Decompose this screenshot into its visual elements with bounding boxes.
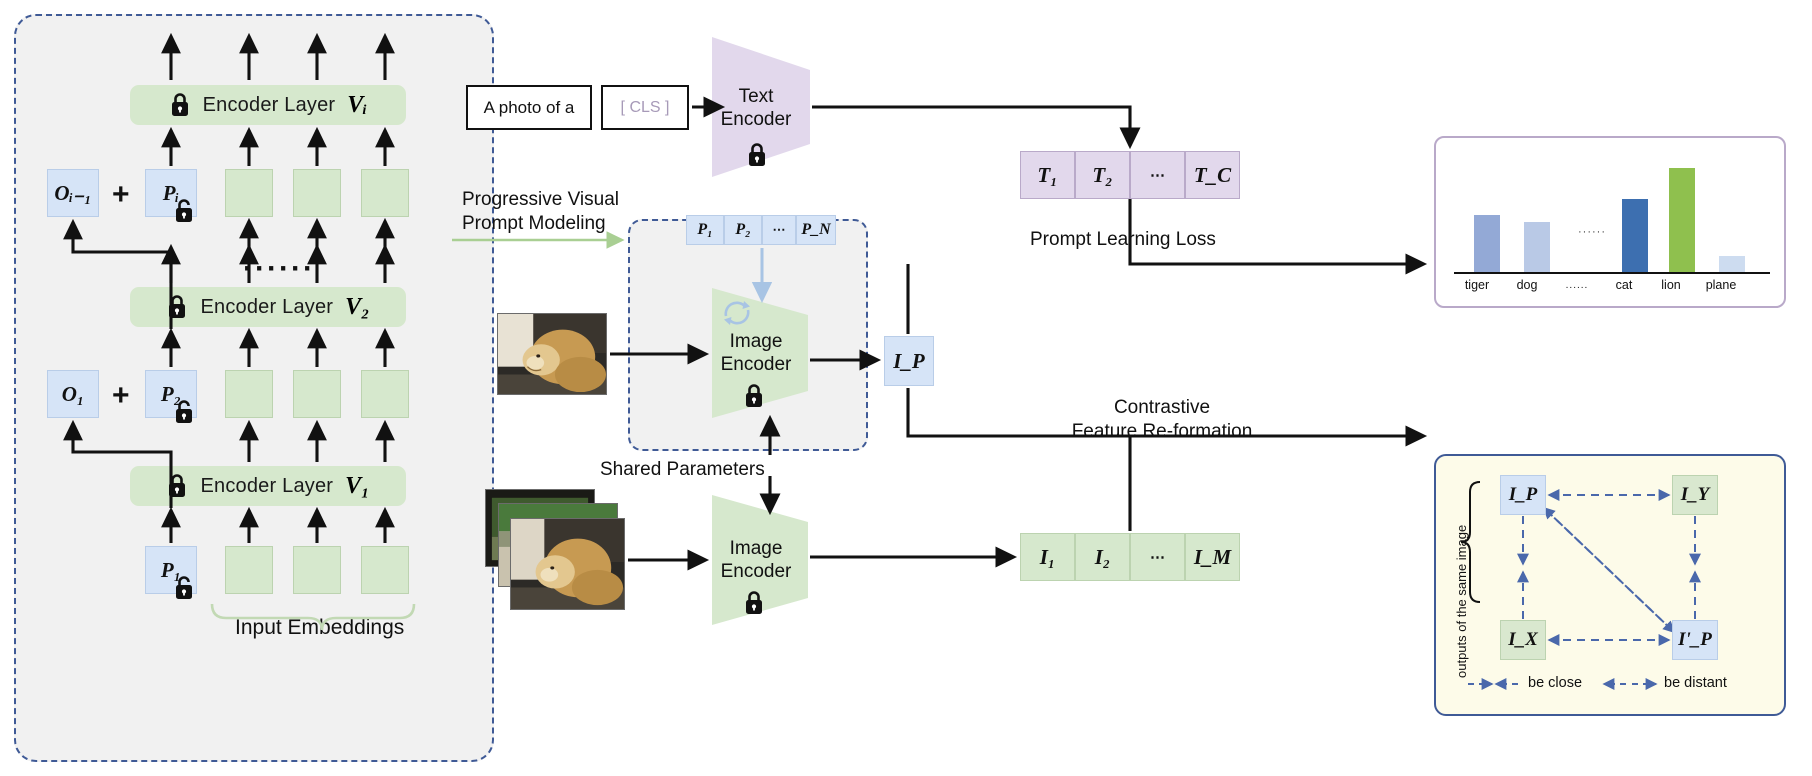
cls-token-box: [ CLS ] — [601, 85, 689, 130]
embedding-block — [361, 546, 409, 594]
chart-mid-ellipsis: ······ — [1578, 226, 1606, 238]
visual-prompt-ellipsis: ⋯ — [762, 215, 796, 245]
text-token-ellipsis: ⋯ — [1130, 151, 1185, 199]
encoder-layer-symbol: V₁ — [345, 473, 369, 500]
embedding-block — [293, 546, 341, 594]
visual-prompt: P₁ — [686, 215, 724, 245]
encoder-layer-symbol: Vᵢ — [347, 92, 367, 119]
embedding-block — [225, 370, 273, 418]
contrastive-label-line2: Feature Re-formation — [1052, 420, 1272, 444]
bar-tiger — [1474, 215, 1500, 272]
shared-parameters-label: Shared Parameters — [600, 458, 765, 482]
encoder-layer-label: Encoder Layer — [203, 94, 336, 117]
residual-output-oi: Oᵢ₋₁ — [47, 169, 99, 217]
plus-sign: + — [112, 180, 130, 210]
bar-dog — [1524, 222, 1550, 272]
image-token-row: I₁ I₂ ⋯ I_M — [1020, 533, 1240, 581]
embedding-block — [293, 169, 341, 217]
image-token: I_M — [1185, 533, 1240, 581]
image-encoder-bottom-label: Image Encoder — [712, 537, 800, 583]
chart-xtick: tiger — [1448, 278, 1506, 292]
diagram-root: Encoder Layer Vᵢ Encoder Layer V₂ Encode… — [0, 0, 1812, 776]
legend-be-close: be close — [1528, 675, 1582, 691]
text-prompt-box[interactable]: A photo of a — [466, 85, 592, 130]
lock-closed-icon — [745, 141, 769, 174]
chart-xtick: plane — [1691, 278, 1751, 292]
embedding-block — [225, 169, 273, 217]
bar-cat — [1622, 199, 1648, 272]
chart-xtick: dog — [1499, 278, 1555, 292]
visual-prompt: P₂ — [724, 215, 762, 245]
image-token: I₂ — [1075, 533, 1130, 581]
bar-lion — [1669, 168, 1695, 272]
text-encoder-label: Text Encoder — [712, 85, 800, 131]
ip-token: I_P — [884, 336, 934, 386]
contrastive-node-ix: I_X — [1500, 620, 1546, 660]
image-token: I₁ — [1020, 533, 1075, 581]
chart-plot-area: ······ — [1454, 154, 1770, 272]
text-encoder: Text Encoder — [712, 37, 810, 177]
lock-open-icon — [172, 397, 196, 430]
image-encoder-top: Image Encoder — [712, 288, 808, 418]
plus-sign: + — [112, 381, 130, 411]
contrastive-node-ip-prime: I'_P — [1672, 620, 1718, 660]
input-embeddings-label: Input Embeddings — [235, 615, 404, 641]
lock-closed-icon — [166, 473, 188, 499]
embedding-block — [225, 546, 273, 594]
lock-closed-icon — [169, 92, 191, 118]
visual-prompt: P_N — [796, 215, 836, 245]
image-encoder-top-label: Image Encoder — [712, 330, 800, 376]
legend-be-distant: be distant — [1664, 675, 1727, 691]
embedding-block — [361, 370, 409, 418]
contrastive-node-iy: I_Y — [1672, 475, 1718, 515]
encoder-layer-v2: Encoder Layer V₂ — [130, 287, 406, 327]
contrastive-feature-diagram: outputs of the same image — [1434, 454, 1786, 716]
lock-open-icon — [172, 196, 196, 229]
bar-plane — [1719, 256, 1745, 273]
contrastive-label-line1: Contrastive — [1052, 396, 1272, 420]
text-token: T_C — [1185, 151, 1240, 199]
embedding-block — [361, 169, 409, 217]
input-image-single — [497, 313, 607, 395]
image-encoder-bottom: Image Encoder — [712, 495, 808, 625]
encoder-layer-symbol: V₂ — [345, 294, 369, 321]
prompt-learning-loss-label: Prompt Learning Loss — [1030, 228, 1216, 252]
image-encoder-line1: Image — [712, 330, 800, 353]
lock-closed-icon — [742, 589, 766, 622]
image-encoder-line2: Encoder — [712, 353, 800, 376]
chart-axis-line — [1454, 272, 1770, 274]
text-token: T₂ — [1075, 151, 1130, 199]
encoder-layer-vi: Encoder Layer Vᵢ — [130, 85, 406, 125]
encoder-layer-label: Encoder Layer — [200, 296, 333, 319]
text-encoder-line2: Encoder — [712, 108, 800, 131]
image-token-ellipsis: ⋯ — [1130, 533, 1185, 581]
pvpm-label: Progressive Visual Prompt Modeling — [462, 188, 652, 236]
input-image-stack-front — [510, 518, 625, 610]
visual-prompt-row: P₁ P₂ ⋯ P_N — [686, 215, 836, 245]
text-token-row: T₁ T₂ ⋯ T_C — [1020, 151, 1240, 199]
residual-output-o1: O₁ — [47, 370, 99, 418]
image-encoder-line1: Image — [712, 537, 800, 560]
text-token: T₁ — [1020, 151, 1075, 199]
lock-closed-icon — [166, 294, 188, 320]
pvpm-label-line1: Progressive Visual — [462, 188, 652, 212]
contrastive-node-ip: I_P — [1500, 475, 1546, 515]
class-probability-chart: ······ tiger dog ...... cat lion plane — [1434, 136, 1786, 308]
pvpm-label-line2: Prompt Modeling — [462, 212, 652, 236]
text-encoder-line1: Text — [712, 85, 800, 108]
image-encoder-line2: Encoder — [712, 560, 800, 583]
embedding-block — [293, 370, 341, 418]
lock-closed-icon — [742, 382, 766, 415]
encoder-layer-label: Encoder Layer — [200, 475, 333, 498]
vertical-ellipsis: ······ — [243, 252, 315, 286]
encoder-layer-v1: Encoder Layer V₁ — [130, 466, 406, 506]
contrastive-loss-label: Contrastive Feature Re-formation — [1052, 396, 1272, 444]
lock-open-icon — [172, 573, 196, 606]
